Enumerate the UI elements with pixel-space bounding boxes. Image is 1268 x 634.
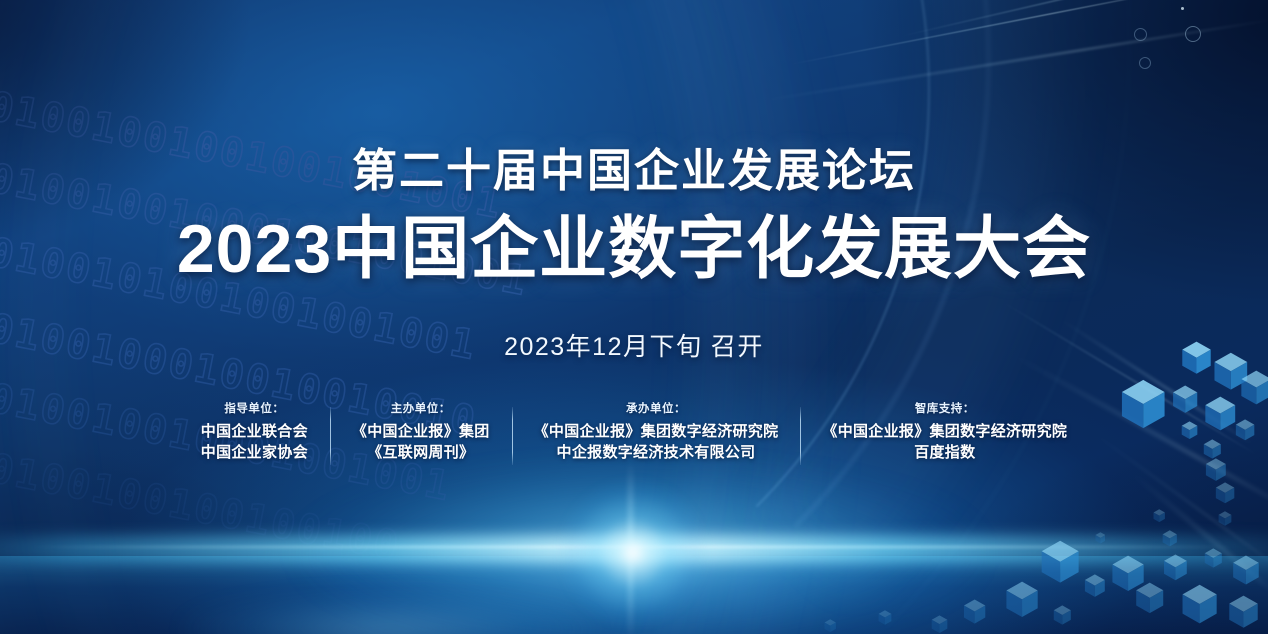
organizer-column: 指导单位：中国企业联合会中国企业家协会 <box>179 400 330 464</box>
organizer-name: 中国企业联合会 <box>201 421 308 442</box>
forum-subtitle: 第二十届中国企业发展论坛 <box>0 147 1268 194</box>
organizer-name: 百度指数 <box>822 442 1067 463</box>
organizer-footer: 指导单位：中国企业联合会中国企业家协会主办单位：《中国企业报》集团《互联网周刊》… <box>0 400 1268 464</box>
organizer-name: 中国企业家协会 <box>201 442 308 463</box>
organizer-name: 《中国企业报》集团数字经济研究院 <box>534 421 779 442</box>
organizer-label: 智库支持： <box>822 400 1067 416</box>
organizer-name: 《中国企业报》集团 <box>352 421 490 442</box>
page-title: 2023中国企业数字化发展大会 <box>0 214 1268 285</box>
organizer-label: 指导单位： <box>201 400 308 416</box>
conference-poster: 0010010010010010010010010010010001001001… <box>0 0 1268 634</box>
organizer-column: 承办单位：《中国企业报》集团数字经济研究院中企报数字经济技术有限公司 <box>512 400 801 464</box>
organizer-name: 《中国企业报》集团数字经济研究院 <box>822 421 1067 442</box>
organizer-column: 主办单位：《中国企业报》集团《互联网周刊》 <box>330 400 512 464</box>
organizer-label: 主办单位： <box>352 400 490 416</box>
organizer-label: 承办单位： <box>534 400 779 416</box>
event-date: 2023年12月下旬 召开 <box>0 327 1268 363</box>
poster-content: 第二十届中国企业发展论坛 2023中国企业数字化发展大会 2023年12月下旬 … <box>0 0 1268 634</box>
organizer-name: 《互联网周刊》 <box>352 442 490 463</box>
organizer-name: 中企报数字经济技术有限公司 <box>534 442 779 463</box>
organizer-column: 智库支持：《中国企业报》集团数字经济研究院百度指数 <box>800 400 1089 464</box>
